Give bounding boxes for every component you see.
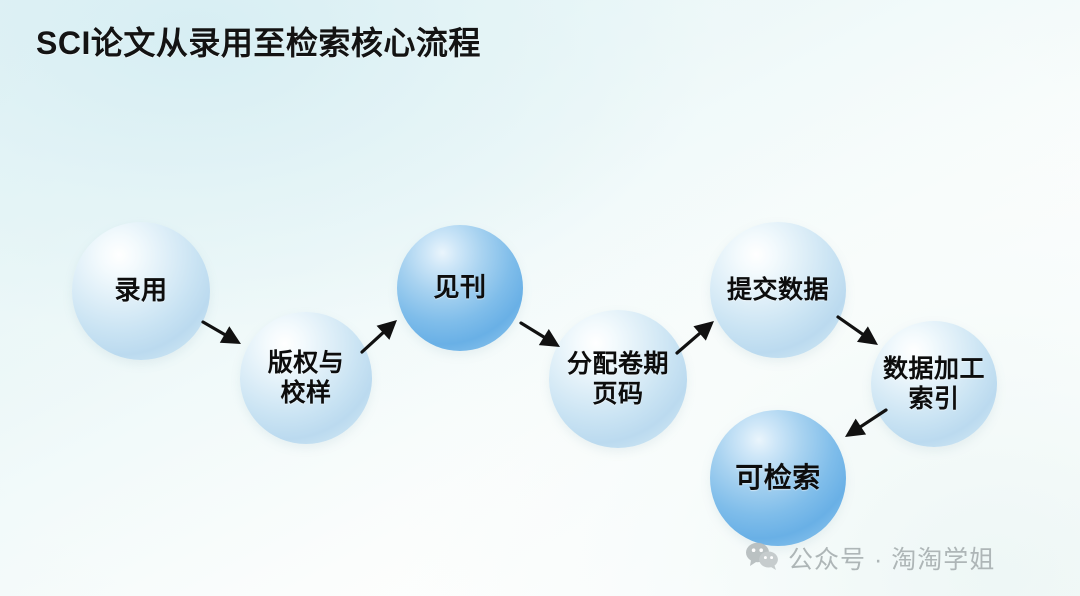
flow-node-label-line: 分配卷期	[567, 349, 669, 380]
flow-node-label-line: 页码	[567, 379, 669, 410]
flow-node-label-line: 版权与	[268, 348, 345, 379]
flow-node-submit-data[interactable]: 提交数据	[710, 222, 846, 358]
flow-node-accepted[interactable]: 录用	[72, 222, 210, 360]
arrow-submit-to-indexing	[838, 317, 878, 345]
watermark-text: 公众号 · 淘淘学姐	[788, 540, 995, 576]
flow-node-label-line: 数据加工	[883, 354, 985, 385]
flow-node-label-line: 可检索	[735, 461, 821, 495]
page-title: SCI论文从录用至检索核心流程	[36, 18, 481, 64]
flow-node-volume-pages[interactable]: 分配卷期页码	[549, 310, 687, 448]
arrow-volume-to-submit	[677, 321, 714, 353]
flow-node-label-line: 见刊	[433, 272, 486, 304]
arrow-published-to-volume	[521, 323, 560, 347]
flow-node-published[interactable]: 见刊	[397, 225, 523, 351]
flow-node-label: 数据加工索引	[877, 354, 991, 415]
arrow-accepted-to-copyright	[203, 322, 241, 344]
watermark: 公众号 · 淘淘学姐	[745, 540, 995, 576]
wechat-icon	[745, 541, 779, 576]
flow-node-label-line: 校样	[268, 378, 345, 409]
flow-node-label: 可检索	[729, 461, 827, 495]
flow-node-label: 见刊	[427, 272, 492, 304]
flow-node-label-line: 索引	[883, 384, 985, 415]
flow-node-searchable[interactable]: 可检索	[710, 410, 846, 546]
flow-node-label-line: 录用	[114, 275, 167, 307]
flow-node-label: 版权与校样	[262, 348, 351, 409]
flow-node-data-indexing[interactable]: 数据加工索引	[871, 321, 997, 447]
flow-node-label: 录用	[108, 275, 173, 307]
arrow-copyright-to-published	[362, 320, 397, 352]
slide-canvas: SCI论文从录用至检索核心流程 录用版权与校样见刊分配卷期页码提交数据数据加工索…	[0, 0, 1080, 596]
flow-node-copyright-proof[interactable]: 版权与校样	[240, 312, 372, 444]
flow-node-label: 分配卷期页码	[561, 349, 675, 410]
flow-node-label-line: 提交数据	[727, 275, 829, 306]
flow-node-label: 提交数据	[721, 275, 835, 306]
